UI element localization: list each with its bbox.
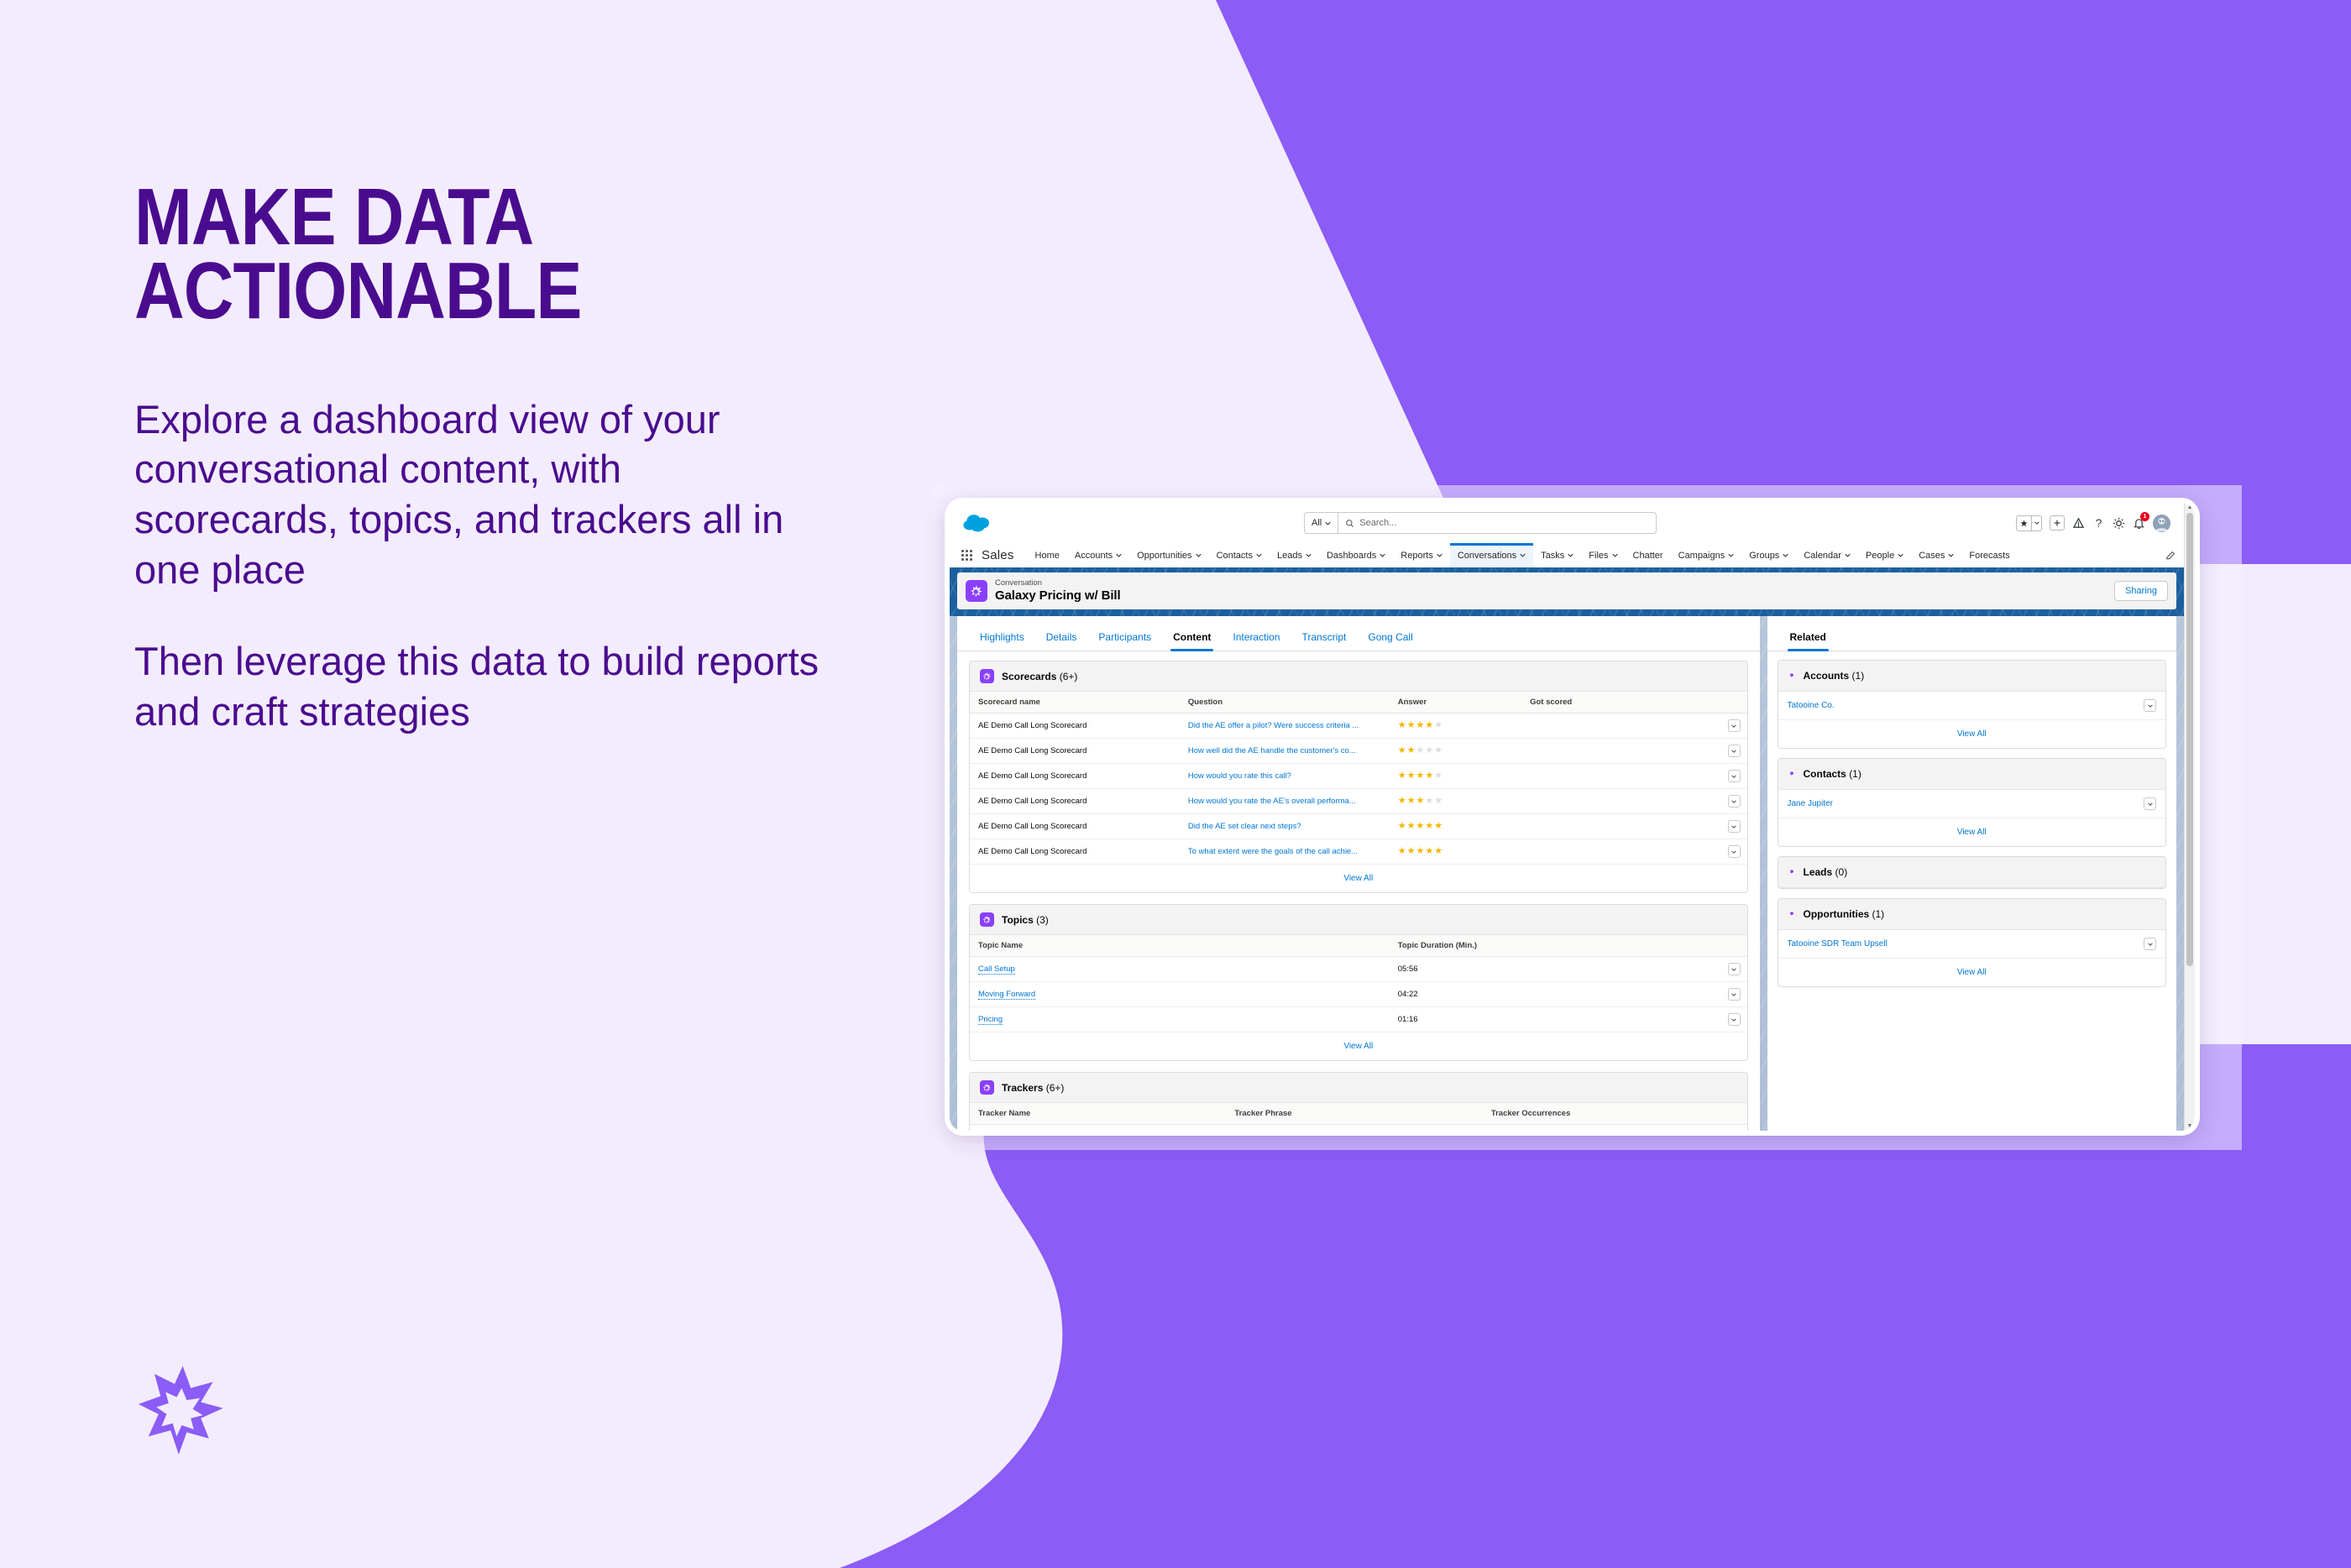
- scorecard-got-scored-cell: [1521, 764, 1715, 789]
- nav-item-people[interactable]: People: [1858, 543, 1911, 567]
- favorites-control[interactable]: [2016, 515, 2042, 531]
- related-list-count: (1): [1849, 768, 1861, 780]
- nav-item-label: Home: [1035, 551, 1060, 561]
- topic-duration-cell: 01:16: [1390, 1007, 1716, 1032]
- star-rating: ★★★★★: [1398, 821, 1443, 831]
- scorecard-answer-cell: ★★★★★: [1390, 713, 1521, 739]
- gong-topics-icon: [980, 912, 994, 927]
- row-actions-menu[interactable]: [1728, 820, 1741, 833]
- gong-record-icon: [966, 580, 987, 602]
- related-list-title: Leads (0): [1804, 866, 1848, 878]
- nav-item-label: Groups: [1749, 551, 1779, 561]
- chevron-down-icon: [1731, 993, 1736, 996]
- star-rating: ★★★★★: [1398, 846, 1443, 856]
- gong-related-icon: [1788, 907, 1797, 922]
- scorecard-got-scored-cell: [1521, 739, 1715, 764]
- search-input[interactable]: Search...: [1359, 518, 1396, 528]
- nav-item-reports[interactable]: Reports: [1393, 543, 1450, 567]
- row-actions-cell: [1715, 839, 1746, 865]
- topic-name-cell: Moving Forward: [970, 982, 1390, 1007]
- setup-gear-icon[interactable]: [2113, 517, 2125, 530]
- column-header[interactable]: Topic Duration (Min.): [1390, 935, 1716, 957]
- row-actions-menu[interactable]: [1728, 845, 1741, 858]
- nav-item-label: Accounts: [1075, 551, 1113, 561]
- table-row[interactable]: Moving Forward04:22: [970, 982, 1747, 1007]
- scorecards-body: AE Demo Call Long ScorecardDid the AE of…: [970, 713, 1747, 865]
- row-actions-cell: [1715, 1007, 1746, 1032]
- chevron-down-icon: [1731, 850, 1736, 854]
- column-header[interactable]: Got scored: [1521, 692, 1715, 713]
- scorecard-question-cell: How would you rate the AE's overall perf…: [1180, 789, 1390, 814]
- trackers-table: Tracker NameTracker PhraseTracker Occurr…: [970, 1103, 1747, 1131]
- table-row[interactable]: [970, 1125, 1747, 1132]
- page-headline: Make Data Actionable: [134, 180, 726, 329]
- related-column: Related Accounts (1)Tatooine Co.View All…: [1767, 616, 2177, 1131]
- row-actions-menu[interactable]: [1728, 745, 1741, 757]
- topic-name-link[interactable]: Call Setup: [978, 964, 1015, 975]
- nav-item-cases[interactable]: Cases: [1911, 543, 1961, 567]
- topics-title: Topics (3): [1002, 914, 1049, 926]
- current-app-name[interactable]: Sales: [982, 548, 1014, 562]
- tab-related[interactable]: Related: [1779, 626, 1837, 651]
- star-rating: ★★★★★: [1398, 771, 1443, 781]
- search-scope-selector[interactable]: All: [1305, 513, 1338, 533]
- nav-item-label: Forecasts: [1969, 551, 2009, 561]
- nav-item-forecasts[interactable]: Forecasts: [1961, 543, 2017, 567]
- column-header[interactable]: Question: [1180, 692, 1390, 713]
- record-actions: Sharing: [2114, 581, 2168, 601]
- topics-header-row: Topic NameTopic Duration (Min.): [970, 935, 1747, 957]
- scorecard-answer-cell: ★★★★★: [1390, 814, 1521, 839]
- record-title: Galaxy Pricing w/ Bill: [995, 588, 1121, 604]
- related-list-title-text: Opportunities: [1804, 908, 1870, 920]
- trackers-count: (6+): [1046, 1082, 1065, 1094]
- salesforce-cloud-logo: [961, 512, 995, 534]
- scorecard-question-cell: How well did the AE handle the customer'…: [1180, 739, 1390, 764]
- notification-count-badge: 1: [2140, 512, 2149, 521]
- nav-item-conversations[interactable]: Conversations: [1450, 543, 1533, 567]
- header-utility-bar: ? 1: [2016, 515, 2172, 532]
- topics-title-text: Topics: [1002, 914, 1034, 926]
- gong-related-icon: [1788, 766, 1797, 781]
- scorecard-name-cell: AE Demo Call Long Scorecard: [970, 713, 1180, 739]
- chevron-down-icon: [1437, 553, 1443, 557]
- nav-item-label: Reports: [1401, 551, 1433, 561]
- tab-details[interactable]: Details: [1035, 626, 1088, 651]
- global-header: All Search...: [950, 503, 2184, 543]
- app-launcher-plus-icon[interactable]: [2050, 515, 2065, 531]
- row-actions-cell: [1715, 713, 1746, 739]
- scorecard-answer-cell: ★★★★★: [1390, 764, 1521, 789]
- row-actions-menu[interactable]: [1728, 795, 1741, 808]
- table-row[interactable]: Call Setup05:56: [970, 957, 1747, 982]
- related-list-opportunities: Opportunities (1)Tatooine SDR Team Upsel…: [1778, 898, 2167, 987]
- related-list-count: (1): [1872, 908, 1885, 920]
- topics-count: (3): [1036, 914, 1049, 926]
- global-search[interactable]: All Search...: [1304, 512, 1657, 534]
- favorites-dropdown-icon[interactable]: [2031, 516, 2041, 531]
- row-actions-menu[interactable]: [1728, 963, 1741, 975]
- topics-view-all[interactable]: View All: [970, 1032, 1747, 1060]
- nav-item-campaigns[interactable]: Campaigns: [1671, 543, 1742, 567]
- column-header-actions: [1715, 692, 1746, 713]
- chevron-down-icon: [1731, 800, 1736, 803]
- column-header-actions: [1715, 935, 1746, 957]
- nav-item-tasks[interactable]: Tasks: [1533, 543, 1581, 567]
- related-record-link[interactable]: Tatooine SDR Team Upsell: [1788, 939, 2144, 949]
- table-row[interactable]: AE Demo Call Long ScorecardHow would you…: [970, 764, 1747, 789]
- scorecards-table: Scorecard nameQuestionAnswerGot scored A…: [970, 692, 1747, 865]
- table-row[interactable]: AE Demo Call Long ScorecardHow well did …: [970, 739, 1747, 764]
- record-header-band: Conversation Galaxy Pricing w/ Bill Shar…: [950, 567, 2184, 616]
- nav-item-leads[interactable]: Leads: [1270, 543, 1319, 567]
- scroll-down-arrow-icon[interactable]: ▼: [2187, 1123, 2193, 1129]
- nav-item-label: Files: [1589, 551, 1608, 561]
- related-list-view-all[interactable]: View All: [1778, 720, 2166, 748]
- gong-starburst-logo: [134, 1360, 235, 1461]
- scorecard-question-link[interactable]: Did the AE offer a pilot? Were success c…: [1188, 721, 1359, 730]
- related-list-contacts: Contacts (1)Jane JupiterView All: [1778, 758, 2167, 847]
- list-item[interactable]: Tatooine Co.: [1778, 692, 2166, 720]
- row-actions-menu[interactable]: [2144, 699, 2156, 712]
- scorecard-question-link[interactable]: How would you rate the AE's overall perf…: [1188, 797, 1356, 806]
- nav-item-label: Opportunities: [1137, 551, 1191, 561]
- scorecards-card: Scorecards (6+) Scorecard nameQuestionAn…: [969, 661, 1748, 893]
- topic-name-link[interactable]: Pricing: [978, 1015, 1003, 1025]
- salesforce-app: All Search...: [950, 503, 2184, 1131]
- row-actions-cell: [1715, 764, 1746, 789]
- record-body: HighlightsDetailsParticipantsContentInte…: [950, 616, 2184, 1131]
- scroll-up-arrow-icon[interactable]: ▲: [2187, 504, 2193, 510]
- app-navigation-bar: Sales HomeAccountsOpportunitiesContactsL…: [950, 543, 2184, 567]
- scorecard-question-cell: Did the AE offer a pilot? Were success c…: [1180, 713, 1390, 739]
- scorecard-name-cell: AE Demo Call Long Scorecard: [970, 839, 1180, 865]
- nav-item-dashboards[interactable]: Dashboards: [1319, 543, 1393, 567]
- nav-item-label: Conversations: [1458, 551, 1516, 561]
- nav-item-groups[interactable]: Groups: [1741, 543, 1796, 567]
- chevron-down-icon: [1948, 553, 1954, 557]
- notifications-bell-icon[interactable]: 1: [2133, 517, 2145, 530]
- chevron-down-icon: [1731, 750, 1736, 753]
- nav-item-files[interactable]: Files: [1581, 543, 1625, 567]
- trackers-title: Trackers (6+): [1002, 1082, 1064, 1094]
- tent-guidance-icon[interactable]: [2072, 517, 2085, 530]
- scorecard-got-scored-cell: [1521, 814, 1715, 839]
- topic-name-cell: Pricing: [970, 1007, 1390, 1032]
- search-icon: [1345, 519, 1354, 528]
- scorecard-got-scored-cell: [1521, 839, 1715, 865]
- gong-trackers-icon: [980, 1080, 994, 1095]
- column-header[interactable]: Scorecard name: [970, 692, 1180, 713]
- chevron-down-icon: [1612, 553, 1618, 557]
- related-list-leads: Leads (0): [1778, 856, 2167, 889]
- related-list-header-contacts: Contacts (1): [1778, 759, 2166, 790]
- nav-item-contacts[interactable]: Contacts: [1209, 543, 1270, 567]
- related-list-title-text: Leads: [1804, 866, 1833, 878]
- scorecard-name-cell: AE Demo Call Long Scorecard: [970, 764, 1180, 789]
- row-actions-cell: [1715, 789, 1746, 814]
- table-row[interactable]: AE Demo Call Long ScorecardDid the AE of…: [970, 713, 1747, 739]
- scrollbar-thumb[interactable]: [2186, 513, 2193, 966]
- scorecard-question-link[interactable]: To what extent were the goals of the cal…: [1188, 847, 1358, 856]
- scorecards-title: Scorecards (6+): [1002, 671, 1077, 682]
- search-scope-label: All: [1312, 518, 1322, 528]
- topic-duration-cell: 05:56: [1390, 957, 1716, 982]
- row-actions-cell: [1715, 814, 1746, 839]
- related-list-count: (1): [1852, 670, 1865, 682]
- trackers-header-row: Tracker NameTracker PhraseTracker Occurr…: [970, 1103, 1747, 1125]
- row-actions-cell: [1715, 957, 1746, 982]
- chevron-down-icon: [1256, 553, 1262, 557]
- topics-card: Topics (3) Topic NameTopic Duration (Min…: [969, 904, 1748, 1061]
- scorecard-name-cell: AE Demo Call Long Scorecard: [970, 789, 1180, 814]
- gong-scorecards-icon: [980, 669, 994, 683]
- tab-highlights[interactable]: Highlights: [969, 626, 1035, 651]
- column-header[interactable]: Tracker Phrase: [1226, 1103, 1482, 1125]
- nav-item-label: Dashboards: [1327, 551, 1376, 561]
- column-header-actions: [1715, 1103, 1746, 1125]
- related-list-title: Accounts (1): [1804, 670, 1865, 682]
- related-list-header-opportunities: Opportunities (1): [1778, 899, 2166, 930]
- column-header[interactable]: Tracker Name: [970, 1103, 1226, 1125]
- content-tab-bar: HighlightsDetailsParticipantsContentInte…: [957, 616, 1760, 651]
- scorecard-question-link[interactable]: Did the AE set clear next steps?: [1188, 822, 1301, 831]
- trackers-title-text: Trackers: [1002, 1082, 1043, 1094]
- scorecard-name-cell: AE Demo Call Long Scorecard: [970, 814, 1180, 839]
- chevron-down-icon: [1731, 724, 1736, 728]
- chevron-down-icon: [2148, 704, 2153, 708]
- scorecard-got-scored-cell: [1521, 789, 1715, 814]
- record-object-label: Conversation: [995, 578, 1121, 588]
- chevron-down-icon: [2148, 802, 2153, 806]
- related-list-title-text: Contacts: [1804, 768, 1846, 780]
- related-list-view-all[interactable]: View All: [1778, 818, 2166, 846]
- row-actions-cell: [1715, 739, 1746, 764]
- nav-item-accounts[interactable]: Accounts: [1067, 543, 1129, 567]
- row-actions-cell: [1715, 982, 1746, 1007]
- scorecard-answer-cell: ★★★★★: [1390, 789, 1521, 814]
- nav-item-label: Chatter: [1633, 551, 1663, 561]
- nav-item-label: Tasks: [1541, 551, 1564, 561]
- chevron-down-icon: [1325, 521, 1331, 525]
- chevron-down-icon: [1196, 553, 1202, 557]
- nav-item-label: Cases: [1919, 551, 1945, 561]
- star-rating: ★★★★★: [1398, 720, 1443, 730]
- row-actions-menu[interactable]: [2144, 797, 2156, 810]
- scorecard-question-cell: Did the AE set clear next steps?: [1180, 814, 1390, 839]
- trackers-card: Trackers (6+) Tracker NameTracker Phrase…: [969, 1072, 1748, 1131]
- nav-item-home[interactable]: Home: [1028, 543, 1067, 567]
- trackers-body: [970, 1125, 1747, 1132]
- svg-text:?: ?: [2096, 517, 2102, 530]
- tab-content[interactable]: Content: [1162, 626, 1222, 651]
- chevron-down-icon: [1845, 553, 1851, 557]
- table-row[interactable]: AE Demo Call Long ScorecardTo what exten…: [970, 839, 1747, 865]
- browser-window: All Search...: [945, 498, 2200, 1136]
- chevron-down-icon: [1731, 825, 1736, 828]
- chevron-down-icon: [1568, 553, 1573, 557]
- related-list-header-leads: Leads (0): [1778, 857, 2166, 888]
- related-list-count: (0): [1835, 866, 1848, 878]
- scorecard-name-cell: AE Demo Call Long Scorecard: [970, 739, 1180, 764]
- chevron-down-icon: [1306, 553, 1312, 557]
- nav-item-label: People: [1866, 551, 1894, 561]
- edit-pencil-icon[interactable]: [2165, 551, 2176, 561]
- column-header[interactable]: Topic Name: [970, 935, 1390, 957]
- user-avatar[interactable]: [2153, 515, 2170, 532]
- gong-related-icon: [1788, 865, 1797, 880]
- scorecard-got-scored-cell: [1521, 713, 1715, 739]
- scorecard-answer-cell: ★★★★★: [1390, 739, 1521, 764]
- tab-transcript[interactable]: Transcript: [1291, 626, 1357, 651]
- content-scroll-area[interactable]: Scorecards (6+) Scorecard nameQuestionAn…: [957, 651, 1760, 1131]
- tab-interaction[interactable]: Interaction: [1222, 626, 1291, 651]
- scorecard-question-link[interactable]: How would you rate this call?: [1188, 771, 1291, 781]
- related-record-link[interactable]: Jane Jupiter: [1788, 799, 2144, 808]
- nav-item-label: Calendar: [1804, 551, 1841, 561]
- headline-line-2: Actionable: [134, 254, 726, 328]
- topic-name-link[interactable]: Moving Forward: [978, 990, 1035, 1000]
- scorecard-question-cell: To what extent were the goals of the cal…: [1180, 839, 1390, 865]
- chevron-down-icon: [1731, 1018, 1736, 1022]
- topic-name-cell: Call Setup: [970, 957, 1390, 982]
- chevron-down-icon: [1783, 553, 1788, 557]
- related-list-view-all[interactable]: View All: [1778, 959, 2166, 986]
- table-row[interactable]: AE Demo Call Long ScorecardDid the AE se…: [970, 814, 1747, 839]
- list-item[interactable]: Tatooine SDR Team Upsell: [1778, 930, 2166, 959]
- sharing-button[interactable]: Sharing: [2114, 581, 2168, 601]
- app-launcher-waffle-icon[interactable]: [961, 550, 972, 561]
- trackers-card-header: Trackers (6+): [970, 1073, 1747, 1103]
- main-content-column: HighlightsDetailsParticipantsContentInte…: [957, 616, 1760, 1131]
- scorecards-card-header: Scorecards (6+): [970, 661, 1747, 692]
- topics-body: Call Setup05:56Moving Forward04:22Pricin…: [970, 957, 1747, 1032]
- row-actions-menu[interactable]: [1728, 1013, 1741, 1026]
- app-viewport: All Search...: [950, 503, 2195, 1131]
- topics-card-header: Topics (3): [970, 905, 1747, 935]
- related-list-accounts: Accounts (1)Tatooine Co.View All: [1778, 660, 2167, 749]
- chevron-down-icon: [1520, 553, 1526, 557]
- scorecard-answer-cell: ★★★★★: [1390, 839, 1521, 865]
- related-tab-bar: Related: [1767, 616, 2177, 651]
- table-row[interactable]: AE Demo Call Long ScorecardHow would you…: [970, 789, 1747, 814]
- body-paragraph-1: Explore a dashboard view of your convers…: [134, 395, 823, 595]
- nav-item-chatter[interactable]: Chatter: [1626, 543, 1671, 567]
- nav-item-list: HomeAccountsOpportunitiesContactsLeadsDa…: [1028, 543, 2165, 567]
- favorites-star-icon[interactable]: [2017, 516, 2031, 531]
- row-actions-menu[interactable]: [1728, 719, 1741, 732]
- record-header-card: Conversation Galaxy Pricing w/ Bill Shar…: [957, 572, 2176, 609]
- chevron-down-icon: [1116, 553, 1122, 557]
- marketing-copy: Make Data Actionable Explore a dashboard…: [134, 180, 823, 737]
- tab-participants[interactable]: Participants: [1087, 626, 1162, 651]
- column-header[interactable]: Tracker Occurrences: [1483, 1103, 1716, 1125]
- table-row[interactable]: Pricing01:16: [970, 1007, 1747, 1032]
- nav-item-label: Leads: [1277, 551, 1302, 561]
- window-scrollbar[interactable]: ▲ ▼: [2184, 503, 2195, 1131]
- record-header-text: Conversation Galaxy Pricing w/ Bill: [995, 578, 1121, 603]
- gong-related-icon: [1788, 668, 1797, 683]
- chevron-down-icon: [1728, 553, 1734, 557]
- column-header[interactable]: Answer: [1390, 692, 1521, 713]
- chevron-down-icon: [2148, 943, 2153, 946]
- related-list-header-accounts: Accounts (1): [1778, 661, 2166, 692]
- nav-item-label: Contacts: [1217, 551, 1253, 561]
- chevron-down-icon: [1898, 553, 1903, 557]
- scorecards-count: (6+): [1060, 671, 1078, 682]
- chevron-down-icon: [1380, 553, 1385, 557]
- related-record-link[interactable]: Tatooine Co.: [1788, 701, 2144, 710]
- body-copy: Explore a dashboard view of your convers…: [134, 395, 823, 737]
- body-paragraph-2: Then leverage this data to build reports…: [134, 636, 823, 736]
- related-list-title: Opportunities (1): [1804, 908, 1885, 920]
- tab-gong-call[interactable]: Gong Call: [1357, 626, 1423, 651]
- nav-item-label: Campaigns: [1678, 551, 1725, 561]
- topics-table: Topic NameTopic Duration (Min.) Call Set…: [970, 935, 1747, 1032]
- list-item[interactable]: Jane Jupiter: [1778, 790, 2166, 818]
- chevron-down-icon: [1731, 775, 1736, 778]
- scorecard-question-link[interactable]: How well did the AE handle the customer'…: [1188, 746, 1356, 755]
- scorecards-view-all[interactable]: View All: [970, 865, 1747, 892]
- star-rating: ★★★★★: [1398, 796, 1443, 806]
- row-actions-menu[interactable]: [1728, 770, 1741, 782]
- star-rating: ★★★★★: [1398, 745, 1443, 755]
- scorecards-header-row: Scorecard nameQuestionAnswerGot scored: [970, 692, 1747, 713]
- scorecard-question-cell: How would you rate this call?: [1180, 764, 1390, 789]
- chevron-down-icon: [1731, 968, 1736, 971]
- row-actions-menu[interactable]: [2144, 938, 2156, 950]
- related-lists-container[interactable]: Accounts (1)Tatooine Co.View AllContacts…: [1767, 651, 2177, 1131]
- help-question-icon[interactable]: ?: [2092, 517, 2105, 530]
- row-actions-menu[interactable]: [1728, 988, 1741, 1001]
- scrollbar-track[interactable]: [2185, 510, 2195, 1123]
- nav-item-opportunities[interactable]: Opportunities: [1129, 543, 1208, 567]
- related-list-title: Contacts (1): [1804, 768, 1861, 780]
- scorecards-title-text: Scorecards: [1002, 671, 1056, 682]
- headline-line-1: Make Data: [134, 180, 726, 254]
- topic-duration-cell: 04:22: [1390, 982, 1716, 1007]
- related-list-title-text: Accounts: [1804, 670, 1850, 682]
- nav-item-calendar[interactable]: Calendar: [1796, 543, 1858, 567]
